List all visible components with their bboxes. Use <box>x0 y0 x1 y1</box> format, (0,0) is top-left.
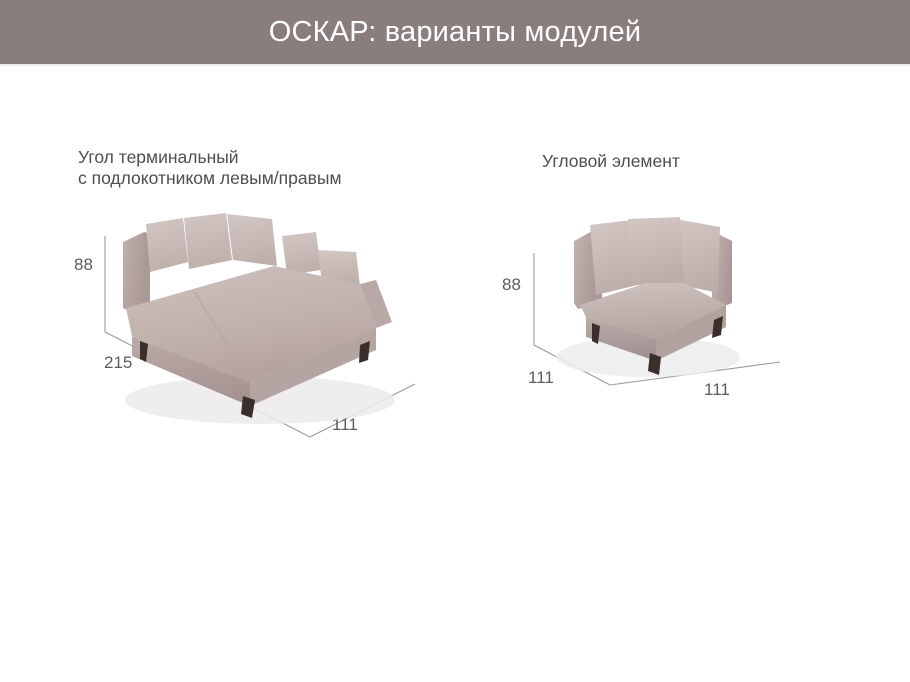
corner-center-pillow <box>628 217 684 285</box>
module-caption-corner-element: Угловой элемент <box>542 151 680 172</box>
header-bar: ОСКАР: варианты модулей <box>0 0 910 64</box>
dimension-value-height: 88 <box>502 275 521 294</box>
page-title: ОСКАР: варианты модулей <box>269 18 641 47</box>
module-illustration-terminal-corner: 88 215 111 <box>60 210 450 460</box>
header-divider <box>0 64 910 66</box>
back-cushion-3 <box>227 214 277 266</box>
module-caption-terminal-corner: Угол терминальный с подлокотником левым/… <box>78 147 341 189</box>
chaise-pillow-1 <box>282 232 321 275</box>
dimension-value-depth: 111 <box>528 368 554 387</box>
back-cushion-1 <box>146 218 188 272</box>
dimension-value-height: 88 <box>74 255 93 274</box>
dimension-value-width: 111 <box>704 380 730 399</box>
slide-page: ОСКАР: варианты модулей Угол терминальны… <box>0 0 910 682</box>
back-cushion-2 <box>184 213 232 269</box>
dimension-value-depth: 215 <box>104 353 132 372</box>
module-illustration-corner-element: 88 111 111 <box>480 205 810 430</box>
corner-leg-front <box>648 353 661 375</box>
